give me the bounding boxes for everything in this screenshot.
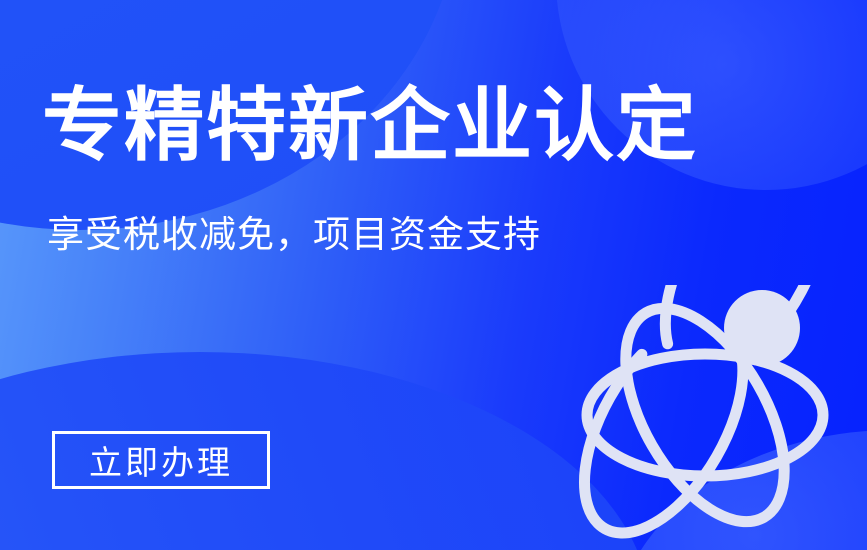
banner-subtitle: 享受税收减免，项目资金支持 — [47, 216, 541, 253]
apply-now-button[interactable]: 立即办理 — [52, 431, 270, 489]
page-title: 专精特新企业认定 — [42, 86, 698, 166]
promo-banner: 专精特新企业认定 享受税收减免，项目资金支持 立即办理 — [0, 0, 867, 550]
banner-content: 专精特新企业认定 享受税收减免，项目资金支持 立即办理 — [0, 0, 867, 550]
